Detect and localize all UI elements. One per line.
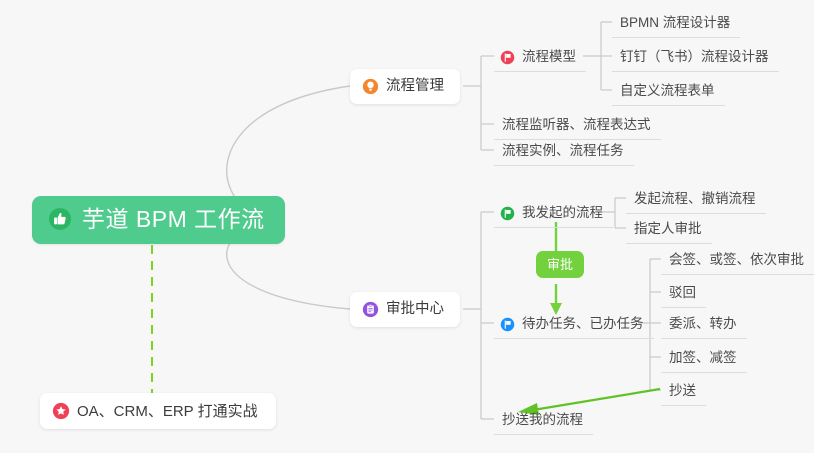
node-dingtalk-feishu-designer[interactable]: 钉钉（飞书）流程设计器: [612, 44, 779, 72]
flag-green-icon: [500, 206, 515, 221]
footer-node-label: OA、CRM、ERP 打通实战: [77, 404, 258, 419]
node-label: 流程监听器、流程表达式: [502, 118, 651, 133]
approval-badge[interactable]: 审批: [536, 251, 584, 278]
branch-process-management[interactable]: 流程管理: [350, 69, 460, 104]
node-custom-process-form[interactable]: 自定义流程表单: [612, 78, 725, 106]
node-label: 抄送我的流程: [502, 413, 583, 428]
node-delegate-transfer[interactable]: 委派、转办: [661, 311, 747, 339]
node-label: 发起流程、撤销流程: [634, 192, 756, 207]
node-process-model[interactable]: 流程模型: [494, 44, 586, 72]
node-label: 我发起的流程: [522, 206, 603, 221]
node-label: BPMN 流程设计器: [620, 16, 730, 31]
node-label: 加签、减签: [669, 351, 737, 366]
footer-node-oa-crm-erp[interactable]: OA、CRM、ERP 打通实战: [40, 393, 276, 429]
flag-red-icon: [500, 50, 515, 65]
node-cc-to-me-process[interactable]: 抄送我的流程: [494, 407, 593, 435]
root-label: 芋道 BPM 工作流: [82, 208, 265, 231]
node-label: 委派、转办: [669, 317, 737, 332]
node-cc[interactable]: 抄送: [661, 378, 706, 406]
node-instance-task[interactable]: 流程实例、流程任务: [494, 138, 634, 166]
node-label: 自定义流程表单: [620, 84, 715, 99]
flag-blue-icon: [500, 317, 515, 332]
node-add-remove-sign[interactable]: 加签、减签: [661, 345, 747, 373]
node-todo-done-tasks[interactable]: 待办任务、已办任务: [494, 311, 654, 339]
node-label: 钉钉（飞书）流程设计器: [620, 50, 769, 65]
mindmap-canvas: 芋道 BPM 工作流 流程管理 流程模型 BPMN 流程设计器 钉钉（飞书）流程: [0, 0, 814, 453]
branch-approval-center[interactable]: 审批中心: [350, 292, 460, 327]
node-listener-expression[interactable]: 流程监听器、流程表达式: [494, 112, 661, 140]
node-label: 流程实例、流程任务: [502, 144, 624, 159]
node-label: 驳回: [669, 286, 696, 301]
node-label: 会签、或签、依次审批: [669, 253, 804, 268]
node-label: 待办任务、已办任务: [522, 317, 644, 332]
node-my-started-process[interactable]: 我发起的流程: [494, 200, 613, 228]
node-label: 流程模型: [522, 50, 576, 65]
branch-label: 流程管理: [386, 79, 444, 94]
node-start-cancel-process[interactable]: 发起流程、撤销流程: [626, 186, 766, 214]
star-red-icon: [52, 402, 70, 420]
thumbs-up-icon: [48, 207, 72, 231]
clipboard-purple-icon: [362, 301, 379, 318]
root-node[interactable]: 芋道 BPM 工作流: [32, 196, 285, 244]
node-assignee-approval[interactable]: 指定人审批: [626, 216, 712, 244]
branch-label: 审批中心: [386, 302, 444, 317]
node-bpmn-designer[interactable]: BPMN 流程设计器: [612, 10, 740, 38]
node-countersign-orsign-sequential[interactable]: 会签、或签、依次审批: [661, 247, 814, 275]
node-reject[interactable]: 驳回: [661, 280, 706, 308]
node-label: 抄送: [669, 384, 696, 399]
badge-label: 审批: [547, 258, 573, 271]
node-label: 指定人审批: [634, 222, 702, 237]
lightbulb-icon: [362, 78, 379, 95]
